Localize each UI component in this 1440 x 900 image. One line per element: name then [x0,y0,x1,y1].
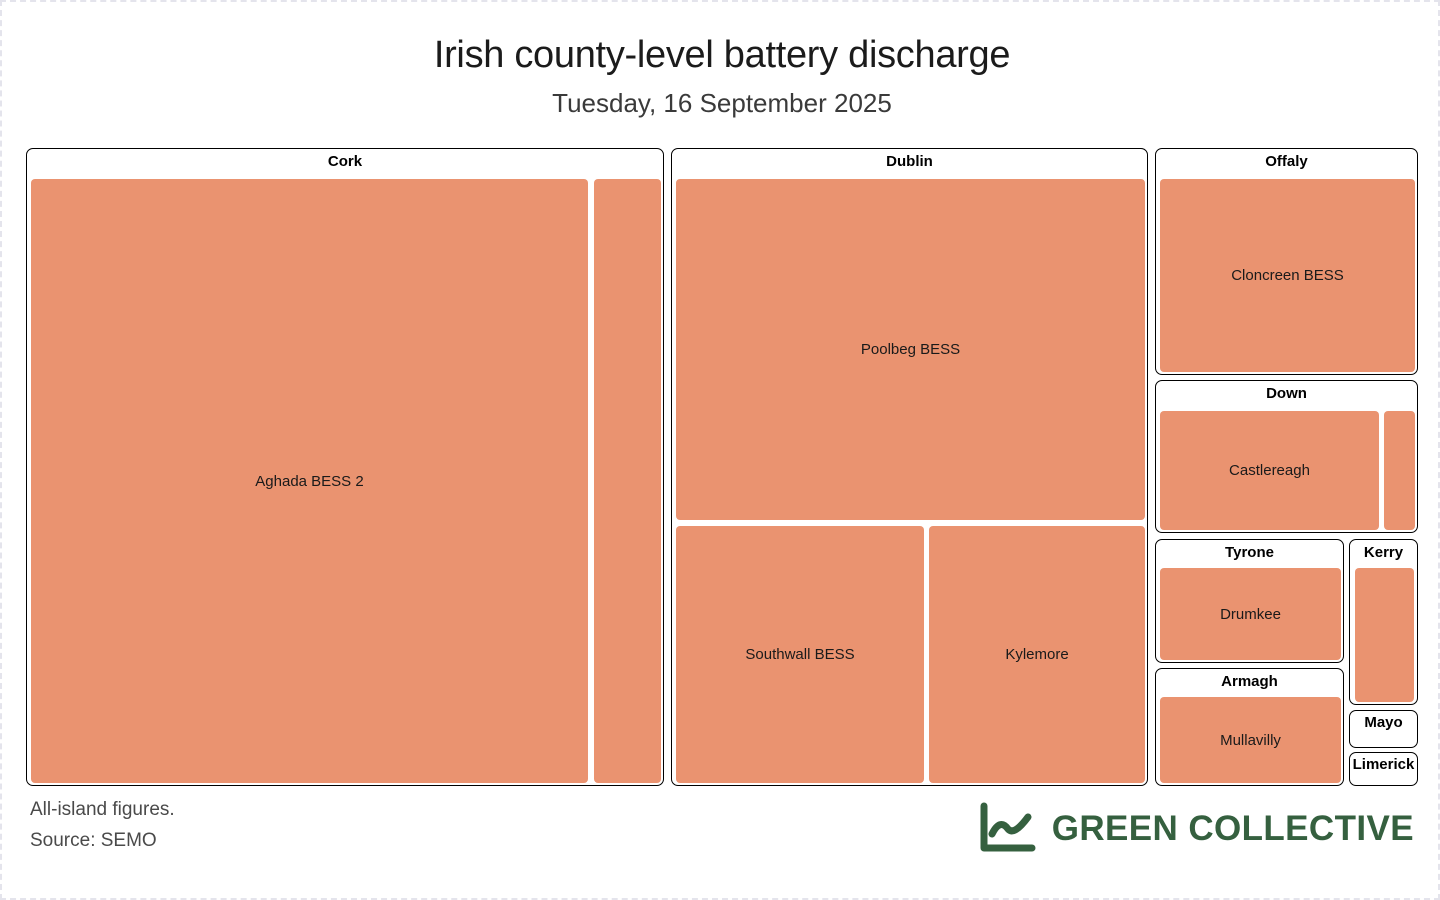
treemap-tile-label: Poolbeg BESS [861,341,960,358]
treemap-tile-label: Aghada BESS 2 [255,473,363,490]
chart-footer: All-island figures. Source: SEMO GREEN C… [2,788,1440,898]
treemap-tile-label: Kylemore [1005,646,1068,663]
treemap-group[interactable]: DownCastlereagh [1155,380,1418,533]
line-chart-axis-icon [978,802,1036,854]
chart-canvas: Irish county-level battery discharge Tue… [0,0,1440,900]
treemap-tile[interactable]: Castlereagh [1160,411,1379,530]
treemap-tile-container [1350,711,1417,747]
brand-lockup: GREEN COLLECTIVE [978,802,1414,854]
treemap-tile[interactable]: Kylemore [929,526,1145,783]
treemap-tile[interactable] [1384,411,1415,530]
treemap-group[interactable]: CorkAghada BESS 2 [26,148,664,786]
treemap-tile[interactable]: Mullavilly [1160,697,1341,783]
treemap-tile-container [1350,753,1417,785]
brand-name: GREEN COLLECTIVE [1052,811,1414,846]
treemap-group[interactable]: OffalyCloncreen BESS [1155,148,1418,375]
treemap-tile[interactable]: Southwall BESS [676,526,924,783]
treemap-group[interactable]: Kerry [1349,539,1418,705]
treemap-tile-label: Southwall BESS [745,646,854,663]
treemap-tile-container: Cloncreen BESS [1156,149,1417,374]
treemap-tile-label: Cloncreen BESS [1231,267,1344,284]
treemap-group[interactable]: Limerick [1349,752,1418,786]
footnote-text: All-island figures. Source: SEMO [30,794,175,856]
treemap-group[interactable]: DublinPoolbeg BESSSouthwall BESSKylemore [671,148,1148,786]
treemap-tile-container: Poolbeg BESSSouthwall BESSKylemore [672,149,1147,785]
chart-header: Irish county-level battery discharge Tue… [2,2,1440,117]
treemap-plot: CorkAghada BESS 2DublinPoolbeg BESSSouth… [26,148,1418,786]
treemap-group[interactable]: TyroneDrumkee [1155,539,1344,663]
page-title: Irish county-level battery discharge [2,2,1440,76]
treemap-tile-label: Drumkee [1220,606,1281,623]
chart-subtitle: Tuesday, 16 September 2025 [2,76,1440,117]
treemap-tile-container [1350,540,1417,704]
treemap-tile[interactable]: Drumkee [1160,568,1341,660]
treemap-tile[interactable]: Poolbeg BESS [676,179,1145,520]
treemap-tile-container: Aghada BESS 2 [27,149,663,785]
treemap-tile[interactable] [594,179,661,783]
treemap-tile-label: Mullavilly [1220,732,1281,749]
treemap-tile-container: Drumkee [1156,540,1343,662]
treemap-tile[interactable] [1355,568,1414,702]
treemap-tile[interactable]: Cloncreen BESS [1160,179,1415,372]
treemap-tile-label: Castlereagh [1229,462,1310,479]
treemap-tile-container: Castlereagh [1156,381,1417,532]
treemap-group[interactable]: Mayo [1349,710,1418,748]
treemap-tile[interactable]: Aghada BESS 2 [31,179,588,783]
treemap-group[interactable]: ArmaghMullavilly [1155,668,1344,786]
treemap-tile-container: Mullavilly [1156,669,1343,785]
